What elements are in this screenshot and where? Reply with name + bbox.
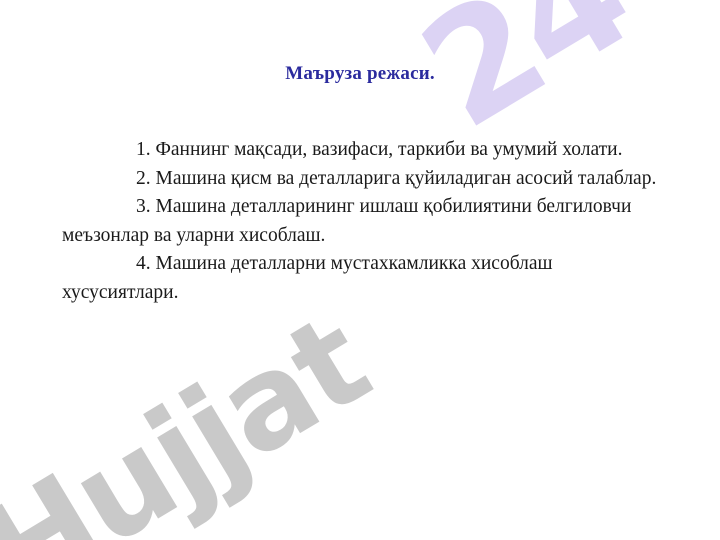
list-item: 3. Машина деталларининг ишлаш қобилиятин… [62, 193, 662, 250]
document-page: 24 Hujjat Маъруза режаси. 1. Фаннинг мақ… [0, 0, 720, 540]
outline-list: 1. Фаннинг мақсади, вазифаси, таркиби ва… [62, 136, 662, 308]
page-title: Маъруза режаси. [0, 62, 720, 86]
watermark-brand-hujjat: Hujjat [0, 296, 386, 540]
list-item: 4. Машина деталларни мустахкамликка хисо… [62, 250, 662, 307]
list-item: 2. Машина қисм ва деталларига қуйиладига… [62, 165, 662, 194]
list-item: 1. Фаннинг мақсади, вазифаси, таркиби ва… [62, 136, 662, 165]
